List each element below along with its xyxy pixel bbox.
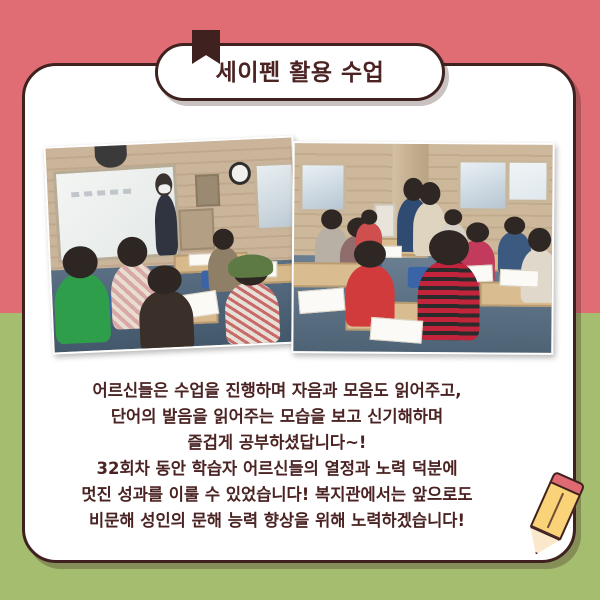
podium (179, 208, 215, 250)
body-line: 어르신들은 수업을 진행하며 자음과 모음도 읽어주고, (30, 378, 524, 404)
window (506, 159, 550, 203)
page-title: 세이펜 활용 수업 (216, 60, 385, 85)
worksheet (370, 317, 423, 344)
student-figure (54, 272, 111, 344)
classroom-lecture-photo (43, 135, 302, 354)
body-line: 비문해 성인의 문해 능력 향상을 위해 노력하겠습니다! (30, 508, 524, 534)
poster-card: 세이펜 활용 수업 어르신들은 수업을 진행하며 자음과 모음도 읽어주고, 단… (0, 0, 600, 600)
body-paragraph: 어르신들은 수업을 진행하며 자음과 모음도 읽어주고, 단어의 발음을 읽어주… (30, 378, 524, 534)
worksheet (500, 269, 539, 287)
students-writing-scene (293, 143, 552, 353)
classroom-lecture-scene (45, 138, 300, 353)
student-figure (138, 289, 195, 353)
body-line: 즐겁게 공부하셨답니다~! (30, 430, 524, 456)
body-line: 멋진 성과를 이룰 수 있었습니다! 복지관에서는 앞으로도 (30, 482, 524, 508)
student-figure (417, 260, 479, 339)
worksheet (298, 287, 346, 314)
student-figure (224, 281, 281, 345)
window (299, 162, 346, 212)
wall-cabinet (194, 173, 220, 207)
body-line: 32회차 동안 학습자 어르신들의 열정과 노력 덕분에 (30, 456, 524, 482)
body-line: 단어의 발음을 읽어주는 모습을 보고 신기해하며 (30, 404, 524, 430)
students-writing-photo (291, 141, 554, 355)
window (457, 159, 509, 211)
window (253, 162, 298, 231)
